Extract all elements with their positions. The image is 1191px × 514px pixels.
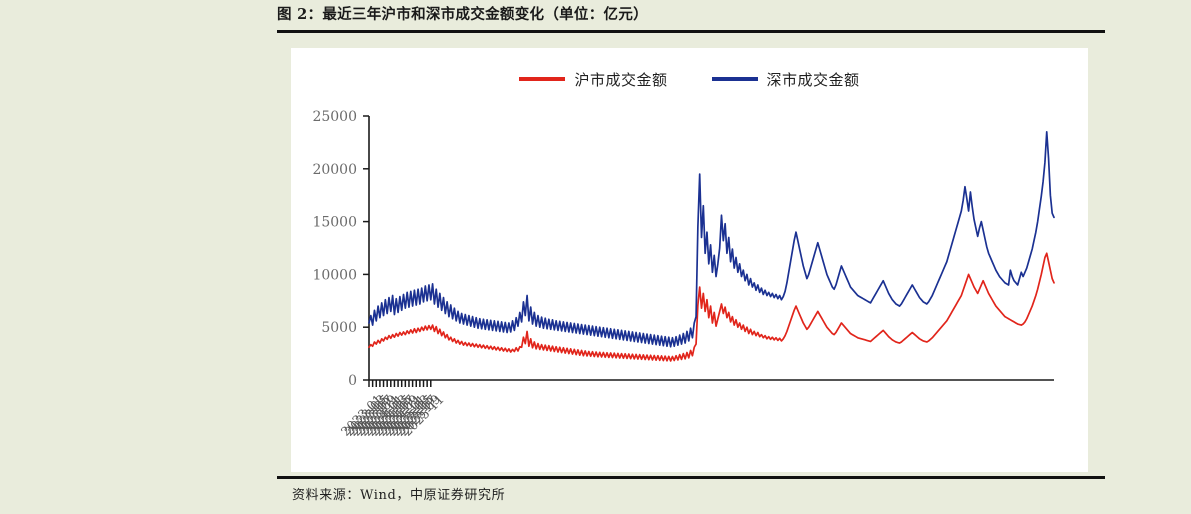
series-lines — [369, 132, 1054, 361]
legend-item-shenzhen: 深市成交金额 — [712, 69, 860, 90]
y-tick-label: 10000 — [312, 267, 357, 283]
figure-title-block: 图 2：最近三年沪市和深市成交金额变化（单位：亿元） — [277, 4, 1105, 30]
legend-item-shanghai: 沪市成交金额 — [519, 69, 667, 90]
y-tick-label: 5000 — [321, 320, 357, 336]
x-axis: 2023-012023-032023-052023-072023-092023-… — [338, 380, 1054, 439]
chart-legend: 沪市成交金额 深市成交金额 — [291, 64, 1088, 94]
y-tick-label: 0 — [348, 373, 357, 389]
chart-panel: 沪市成交金额 深市成交金额 0500010000150002000025000 … — [291, 48, 1088, 472]
title-divider-rule — [277, 30, 1105, 33]
y-tick-label: 20000 — [312, 162, 357, 178]
figure-title: 图 2：最近三年沪市和深市成交金额变化（单位：亿元） — [277, 4, 1105, 26]
line-swatch-red-icon — [519, 77, 565, 81]
plot-area: 0500010000150002000025000 2023-012023-03… — [291, 94, 1088, 472]
source-divider-rule — [277, 476, 1105, 479]
figure-container: 图 2：最近三年沪市和深市成交金额变化（单位：亿元） 沪市成交金额 深市成交金额… — [0, 0, 1191, 514]
y-tick-label: 25000 — [312, 109, 357, 125]
chart-svg: 0500010000150002000025000 2023-012023-03… — [291, 94, 1088, 472]
legend-label-shenzhen: 深市成交金额 — [767, 69, 860, 90]
source-note: 资料来源：Wind，中原证券研究所 — [292, 484, 505, 503]
y-tick-label: 15000 — [312, 215, 357, 231]
line-swatch-blue-icon — [712, 77, 758, 81]
y-axis: 0500010000150002000025000 — [312, 109, 369, 389]
legend-label-shanghai: 沪市成交金额 — [574, 69, 667, 90]
